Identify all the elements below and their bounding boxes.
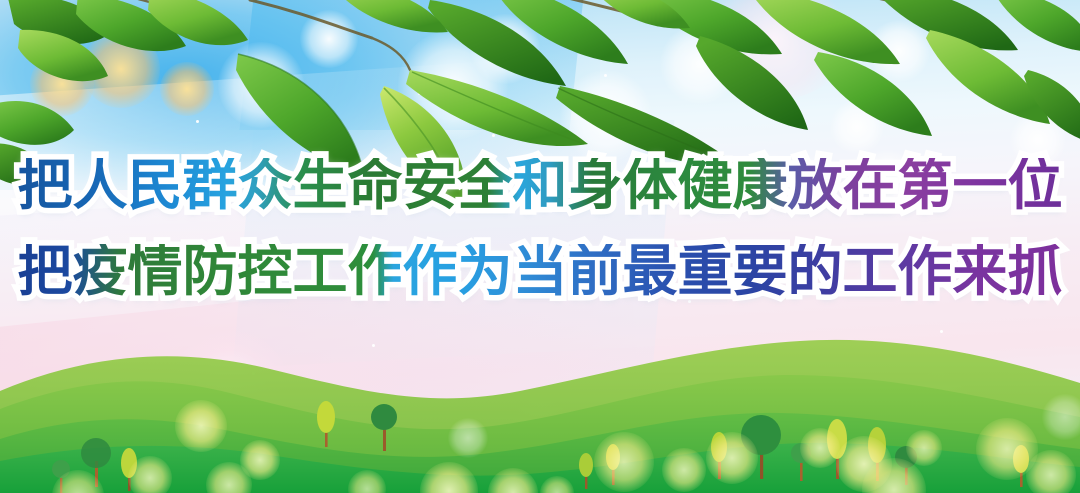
headline-line-2-text: 把疫情防控工作作为当前最重要的工作来抓 — [17, 244, 1062, 299]
rolling-hills-decoration — [0, 313, 1080, 493]
headline-line-1-text: 把人民群众生命安全和身体健康放在第一位 — [17, 158, 1062, 213]
headline-line-2: 把疫情防控工作作为当前最重要的工作来抓 把疫情防控工作作为当前最重要的工作来抓 — [0, 244, 1080, 318]
covid-slogan-banner: 把人民群众生命安全和身体健康放在第一位 把人民群众生命安全和身体健康放在第一位 … — [0, 0, 1080, 493]
headline-line-1: 把人民群众生命安全和身体健康放在第一位 把人民群众生命安全和身体健康放在第一位 — [0, 158, 1080, 232]
headline-block: 把人民群众生命安全和身体健康放在第一位 把人民群众生命安全和身体健康放在第一位 … — [0, 158, 1080, 318]
